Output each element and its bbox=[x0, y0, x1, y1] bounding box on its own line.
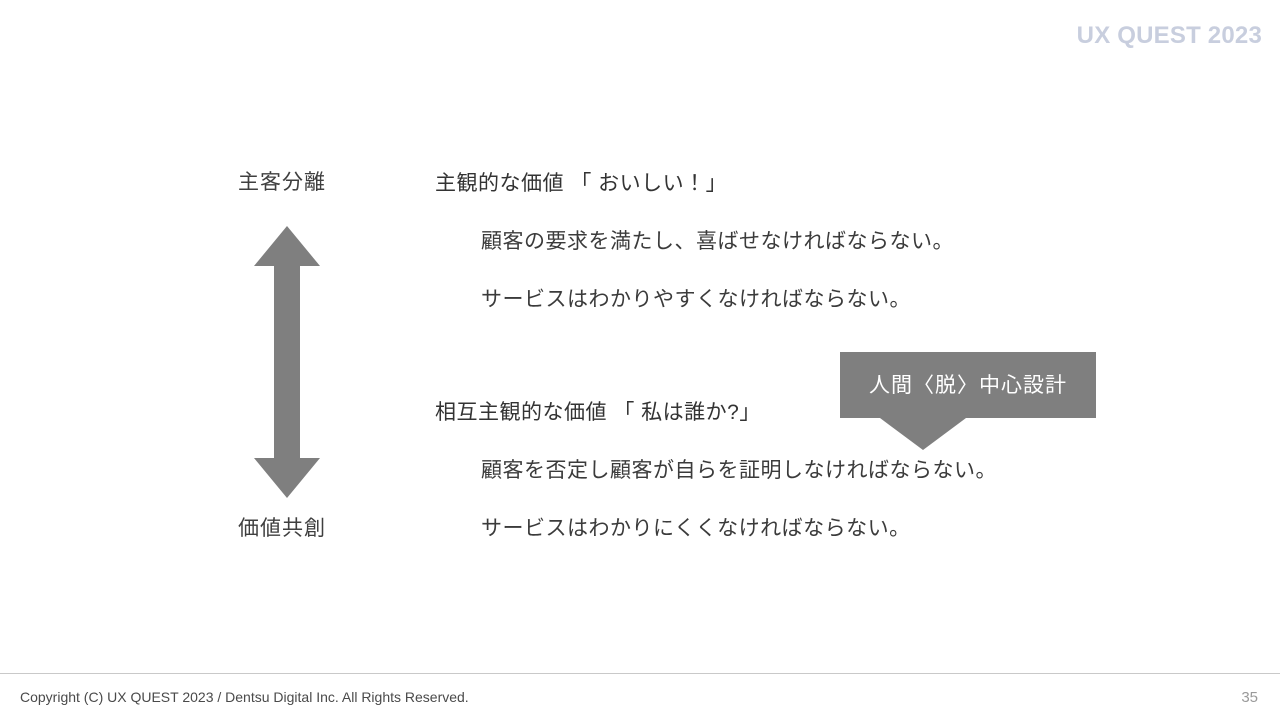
page-number: 35 bbox=[1241, 690, 1258, 705]
body-line-5: 顧客を否定し顧客が自らを証明しなければならない。 bbox=[481, 458, 997, 484]
slide-canvas: UX QUEST 2023 主客分離 価値共創 主観的な価値 「 おいしい！」 … bbox=[0, 0, 1280, 720]
callout-label: 人間〈脱〉中心設計 bbox=[869, 375, 1067, 396]
callout-tail-pointer bbox=[880, 418, 966, 450]
double-headed-vertical-arrow-icon bbox=[254, 226, 320, 498]
callout-box: 人間〈脱〉中心設計 bbox=[840, 352, 1096, 418]
body-line-2: 顧客の要求を満たし、喜ばせなければならない。 bbox=[481, 229, 954, 255]
body-line-6: サービスはわかりにくくなければならない。 bbox=[481, 516, 911, 542]
axis-bottom-label: 価値共創 bbox=[238, 518, 326, 539]
brand-logo-text: UX QUEST 2023 bbox=[1077, 24, 1262, 48]
callout-balloon: 人間〈脱〉中心設計 bbox=[840, 352, 1096, 418]
footer-divider bbox=[0, 673, 1280, 674]
axis-top-label: 主客分離 bbox=[238, 172, 326, 193]
body-line-1: 主観的な価値 「 おいしい！」 bbox=[435, 171, 727, 197]
body-line-3: サービスはわかりやすくなければならない。 bbox=[481, 287, 911, 313]
footer-copyright: Copyright (C) UX QUEST 2023 / Dentsu Dig… bbox=[20, 690, 469, 704]
body-line-4: 相互主観的な価値 「 私は誰か?」 bbox=[435, 400, 761, 426]
